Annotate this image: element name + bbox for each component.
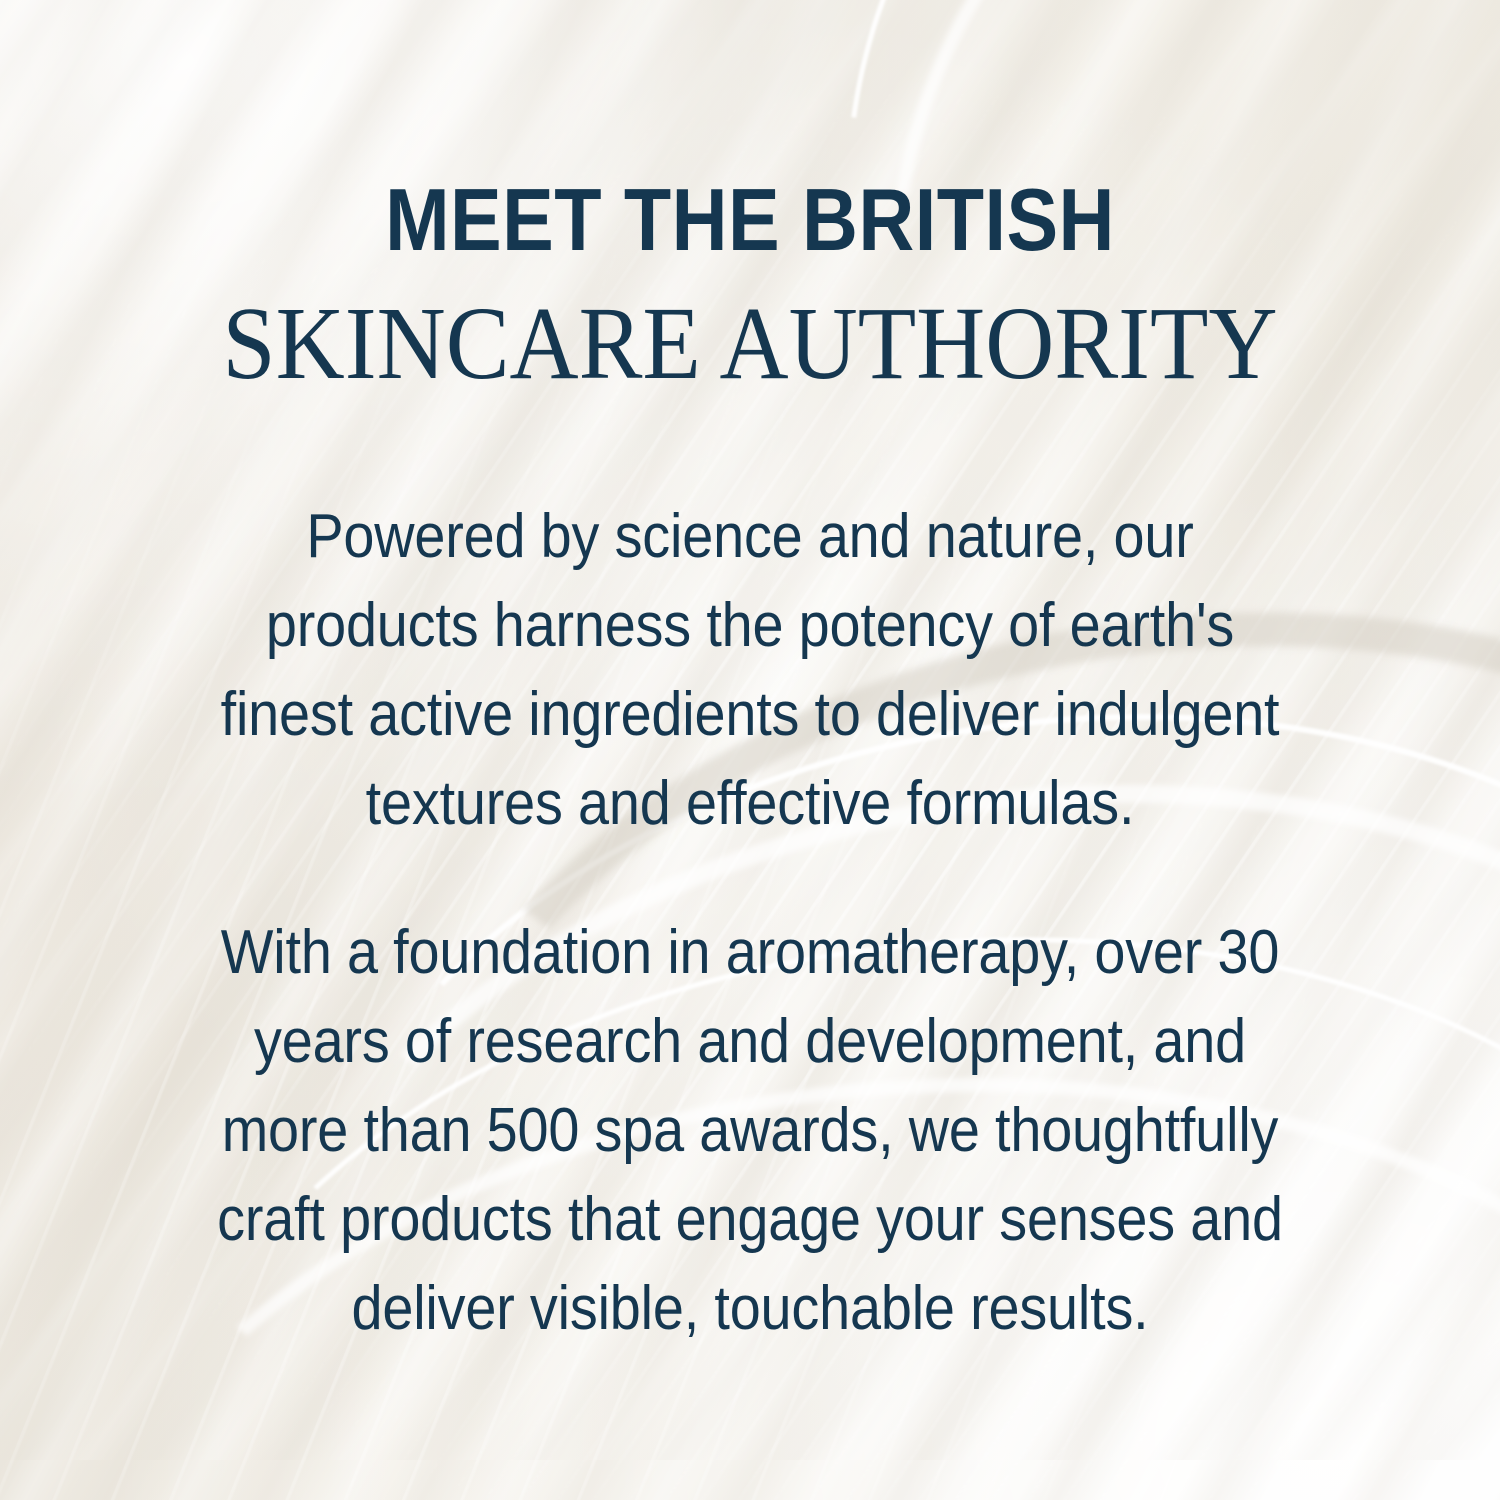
paragraph-1-line-3: finest active ingredients to deliver ind… <box>125 670 1376 759</box>
paragraph-2-line-5: deliver visible, touchable results. <box>125 1264 1376 1353</box>
paragraph-2-line-2: years of research and development, and <box>125 997 1376 1086</box>
body-copy: Powered by science and nature, our produ… <box>100 492 1400 1353</box>
paragraph-1: Powered by science and nature, our produ… <box>125 492 1376 848</box>
paragraph-2-line-4: craft products that engage your senses a… <box>125 1175 1376 1264</box>
paragraph-1-line-2: products harness the potency of earth's <box>125 581 1376 670</box>
paragraph-2-line-3: more than 500 spa awards, we thoughtfull… <box>125 1086 1376 1175</box>
paragraph-2-line-1: With a foundation in aromatherapy, over … <box>125 908 1376 997</box>
paragraph-2: With a foundation in aromatherapy, over … <box>125 908 1376 1353</box>
headline: MEET THE BRITISH SKINCARE AUTHORITY <box>0 0 1500 396</box>
headline-line-2: SKINCARE AUTHORITY <box>60 264 1440 396</box>
paragraph-1-line-1: Powered by science and nature, our <box>125 492 1376 581</box>
headline-line-1: MEET THE BRITISH <box>90 0 1410 264</box>
brand-story-image: MEET THE BRITISH SKINCARE AUTHORITY Powe… <box>0 0 1500 1500</box>
content-wrapper: MEET THE BRITISH SKINCARE AUTHORITY Powe… <box>0 0 1500 1500</box>
paragraph-1-line-4: textures and effective formulas. <box>125 759 1376 848</box>
